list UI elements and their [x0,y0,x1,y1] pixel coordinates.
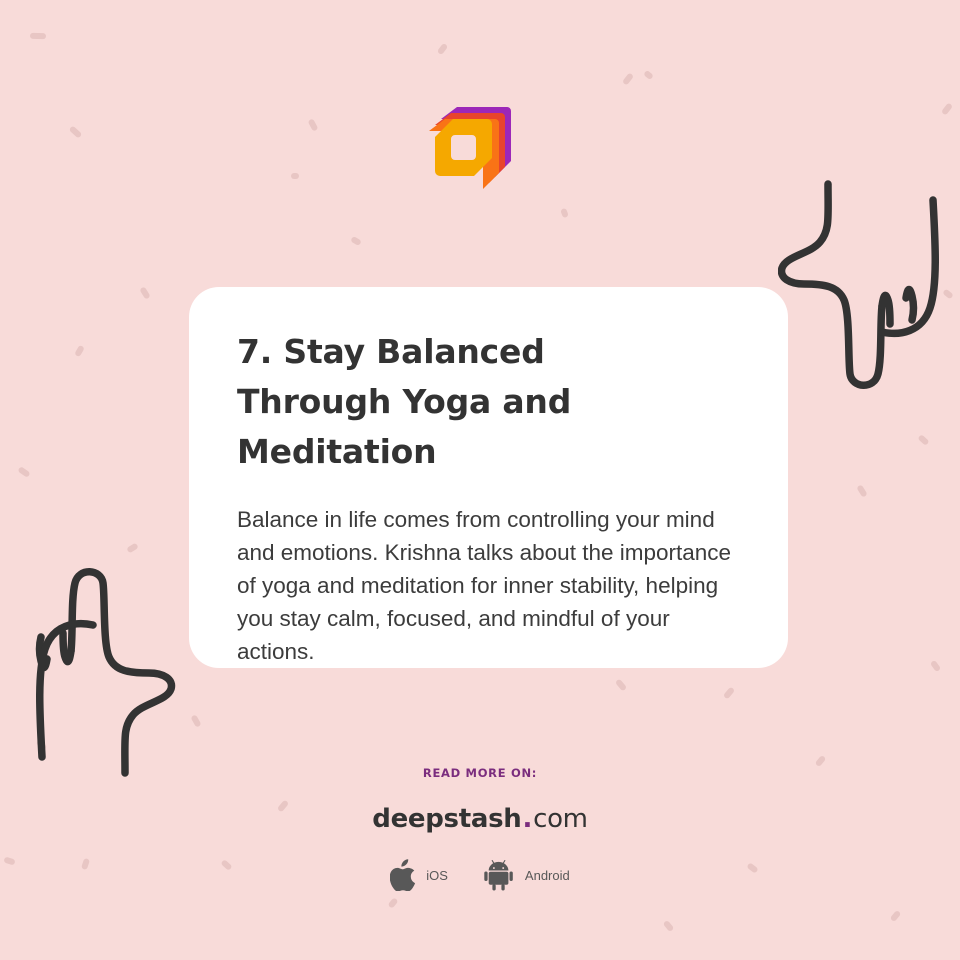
android-store-label: Android [525,868,570,883]
confetti-dash [560,208,569,219]
confetti-dash [69,125,83,138]
card-body-text: Balance in life comes from controlling y… [237,503,740,668]
footer: READ MORE ON: deepstash.com iOS [0,766,960,891]
confetti-dash [890,910,902,922]
confetti-dash [622,72,634,85]
ios-store-label: iOS [426,868,448,883]
confetti-dash [308,118,319,131]
confetti-dash [139,286,150,299]
site-url-name: deepstash [372,804,521,834]
confetti-dash [126,543,139,554]
ios-store-badge[interactable]: iOS [390,859,448,891]
app-store-badges: iOS Android [390,859,569,891]
site-url[interactable]: deepstash.com [372,804,587,834]
confetti-dash [291,173,299,179]
confetti-dash [74,345,85,358]
card-title: 7. Stay Balanced Through Yoga and Medita… [237,327,707,477]
confetti-dash [941,102,953,115]
confetti-dash [917,434,929,446]
confetti-dash [663,920,675,932]
confetti-dash [723,686,735,699]
content-card: 7. Stay Balanced Through Yoga and Medita… [189,287,788,668]
confetti-dash [643,70,654,80]
confetti-dash [387,897,398,909]
site-url-tld: com [533,804,588,834]
confetti-dash [190,714,201,727]
confetti-dash [942,289,954,300]
read-more-label: READ MORE ON: [423,766,537,780]
poster-canvas: 7. Stay Balanced Through Yoga and Medita… [0,0,960,960]
confetti-dash [350,236,362,246]
confetti-dash [856,484,867,497]
pointing-hand-icon [26,565,204,780]
android-store-badge[interactable]: Android [484,859,570,891]
confetti-dash [615,678,627,691]
deepstash-logo-icon [429,105,515,191]
confetti-dash [930,660,941,672]
confetti-dash [30,33,46,40]
confetti-dash [17,466,30,478]
apple-icon [390,859,417,891]
confetti-dash [36,739,48,751]
confetti-dash [437,43,449,55]
android-icon [484,859,516,891]
pointing-hand-icon [778,178,960,396]
site-url-dot: . [522,804,534,834]
